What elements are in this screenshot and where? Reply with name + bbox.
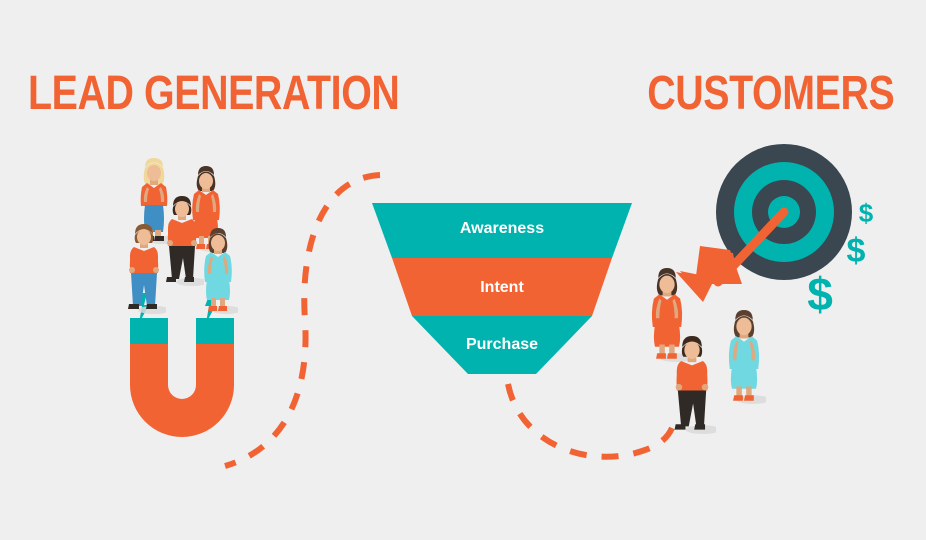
dollar-sign-icon: $ xyxy=(847,232,866,270)
dashed-path-left xyxy=(225,175,380,466)
funnel-label-intent: Intent xyxy=(372,279,632,297)
page-title-customers: CUSTOMERS xyxy=(647,70,894,118)
funnel-label-awareness: Awareness xyxy=(372,220,632,238)
page-title-lead-generation: LEAD GENERATION xyxy=(28,70,399,118)
dollar-sign-icon: $ xyxy=(807,268,833,320)
person-woman-cyan-dress xyxy=(729,310,769,404)
dollar-sign-icon: $ xyxy=(859,198,874,228)
funnel-label-purchase: Purchase xyxy=(372,336,632,354)
people-group-leads xyxy=(128,158,241,314)
magnet-icon xyxy=(130,318,234,437)
people-group-customers xyxy=(652,268,769,434)
person-man-orange-shirt xyxy=(675,336,721,434)
dashed-path-right xyxy=(508,384,672,457)
infographic-canvas: $ $ $ LEAD GENERATION CUSTOMERS Awarenes… xyxy=(0,0,926,540)
